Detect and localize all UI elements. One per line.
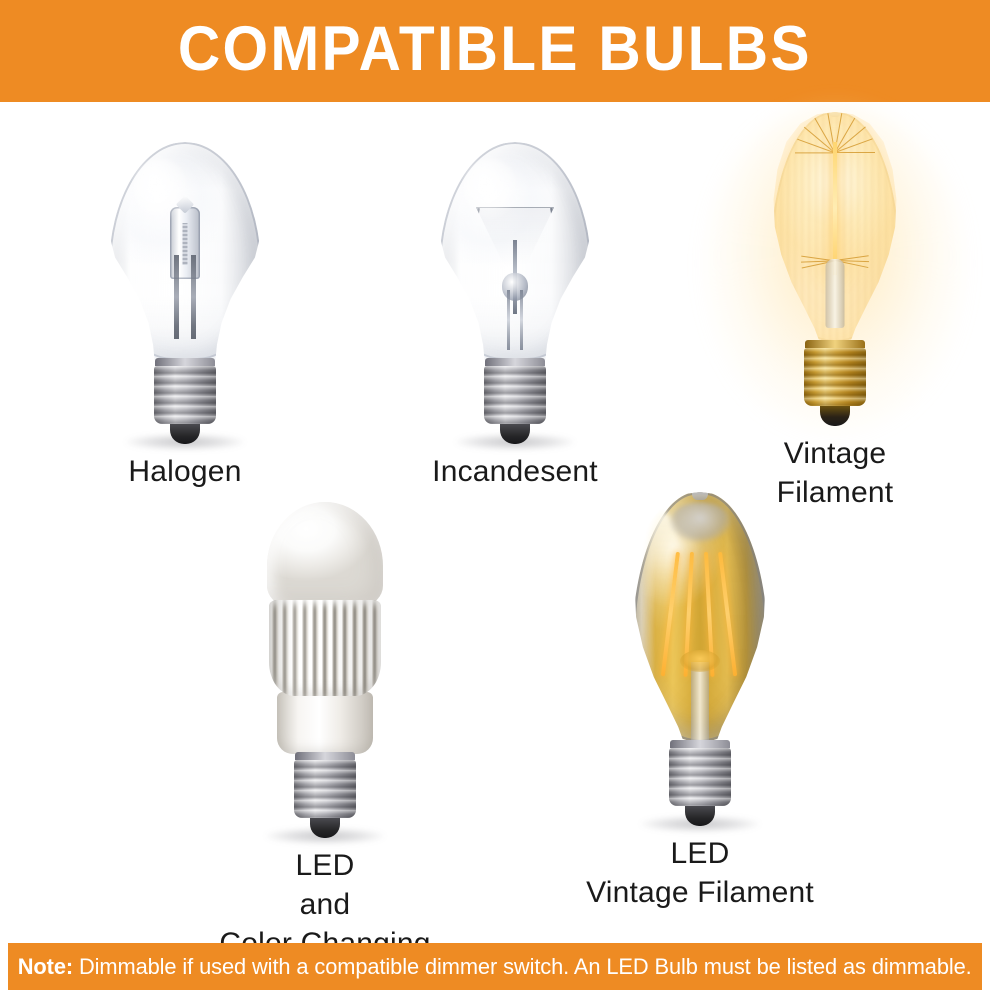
- vintage-glass-envelope: [771, 112, 899, 342]
- glass-tip: [830, 103, 841, 117]
- compatible-bulbs-infographic: COMPATIBLE BULBS: [0, 0, 990, 990]
- vintage-screw-base: [804, 340, 866, 426]
- page-title: COMPATIBLE BULBS: [178, 18, 812, 85]
- footer-note-prefix: Note:: [18, 954, 73, 979]
- vintage-filament-bulb-icon: [771, 112, 899, 426]
- footer-note-band: Note: Dimmable if used with a compatible…: [8, 943, 982, 990]
- amber-glass-envelope: [632, 492, 768, 742]
- bulb-label-incandescent: Incandesent: [432, 452, 598, 491]
- bulb-item-halogen: Halogen: [35, 142, 335, 491]
- led-diffuser-dome: [267, 502, 383, 606]
- halogen-glass-envelope: [109, 142, 261, 360]
- halogen-bulb-icon: [109, 142, 261, 444]
- led-body-skirt: [277, 692, 373, 754]
- glass-neck-shading: [148, 326, 222, 360]
- led-heatsink-fins: [269, 600, 381, 696]
- bulb-grid: Halogen: [0, 102, 990, 943]
- led-screw-base: [294, 752, 356, 838]
- bulb-label-halogen: Halogen: [128, 452, 241, 491]
- bulb-item-led-vintage-filament: LED Vintage Filament: [525, 492, 875, 912]
- bulb-item-vintage-filament: Vintage Filament: [690, 112, 980, 512]
- incandescent-bulb-icon: [439, 142, 591, 444]
- led-bulb-icon: [267, 502, 383, 838]
- header-band: COMPATIBLE BULBS: [0, 0, 990, 102]
- footer-note-text: Dimmable if used with a compatible dimme…: [73, 954, 972, 979]
- incandescent-glass-envelope: [439, 142, 591, 360]
- led-vintage-screw-base: [669, 740, 731, 826]
- filament-hub-glow: [680, 650, 720, 672]
- filament-stem: [826, 259, 845, 328]
- incandescent-screw-base: [484, 358, 546, 444]
- bulb-item-incandescent: Incandesent: [365, 142, 665, 491]
- led-vintage-filament-bulb-icon: [632, 492, 768, 826]
- footer-note: Note: Dimmable if used with a compatible…: [18, 954, 972, 980]
- halogen-screw-base: [154, 358, 216, 444]
- bulb-item-led-color-changing: LED and Color Changing: [165, 502, 485, 963]
- bulb-label-led-vintage-filament: LED Vintage Filament: [586, 834, 814, 912]
- glass-neck-shading: [478, 326, 552, 360]
